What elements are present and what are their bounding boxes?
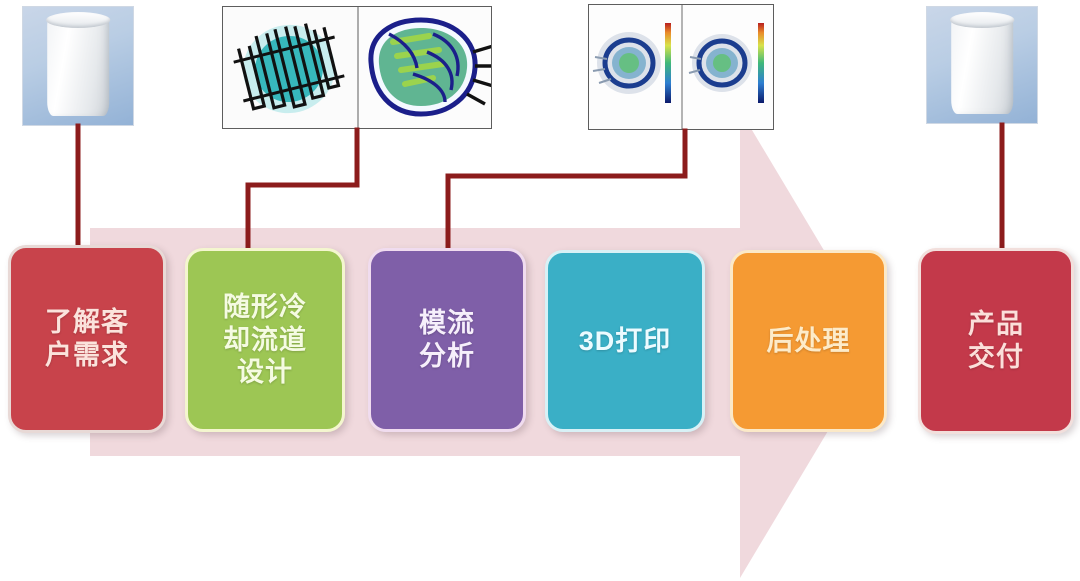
stage-1-line-2: 户需求 — [45, 339, 129, 372]
stage-5-line-1: 后处理 — [767, 325, 851, 358]
thumbnail-product-input — [22, 6, 134, 126]
stage-box-3d-printing[interactable]: 3D打印 — [545, 250, 705, 432]
cooling-design-figures — [223, 7, 492, 129]
stage-3-line-2: 分析 — [419, 340, 475, 373]
stage-box-product-delivery[interactable]: 产品 交付 — [918, 248, 1074, 434]
stage-box-understand-requirements[interactable]: 了解客 户需求 — [8, 245, 166, 433]
stage-6-line-2: 交付 — [968, 341, 1024, 374]
stage-box-moldflow-analysis[interactable]: 模流 分析 — [368, 248, 526, 432]
thumbnail-cooling-design — [222, 6, 492, 129]
stage-3-line-1: 模流 — [419, 307, 475, 340]
stage-6-line-1: 产品 — [968, 308, 1024, 341]
thumbnail-product-output — [926, 6, 1038, 124]
simulation-result-figures — [589, 5, 774, 130]
white-cup-photo — [47, 16, 109, 115]
process-flow-diagram: 了解客 户需求 随形冷 却流道 设计 模流 分析 3D打印 后处理 产品 交付 — [0, 0, 1080, 581]
stage-box-conformal-cooling-design[interactable]: 随形冷 却流道 设计 — [185, 248, 345, 432]
connector-sim-to-stage3 — [448, 131, 685, 246]
stage-2-line-2: 却流道 — [223, 324, 307, 357]
stage-1-line-1: 了解客 — [45, 306, 129, 339]
stage-2-line-3: 设计 — [223, 356, 307, 389]
stage-box-post-processing[interactable]: 后处理 — [730, 250, 887, 432]
stage-2-line-1: 随形冷 — [223, 291, 307, 324]
stage-4-line-1: 3D打印 — [579, 325, 672, 358]
connector-design-to-stage2 — [248, 130, 357, 246]
thumbnail-simulation-results — [588, 4, 774, 130]
finished-cup-photo — [951, 16, 1013, 113]
